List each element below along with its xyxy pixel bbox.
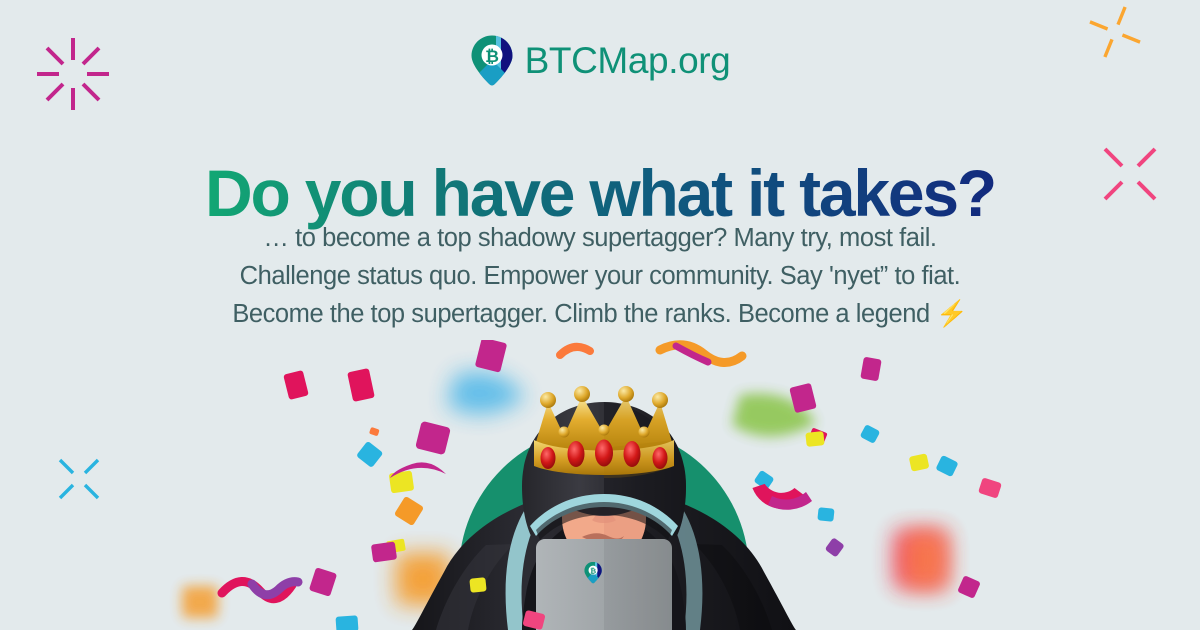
high-voltage-emoji: ⚡ — [936, 300, 967, 328]
brand-name: BTCMap.org — [525, 42, 731, 79]
subtitle: … to become a top shadowy supertagger? M… — [0, 219, 1200, 333]
subtitle-line-1: … to become a top shadowy supertagger? M… — [0, 219, 1200, 257]
brand-header[interactable]: ₿ BTCMap.org — [0, 34, 1200, 86]
subtitle-line-3-text: Become the top supertagger. Climb the ra… — [232, 300, 936, 328]
laptop: ₿ — [536, 539, 672, 630]
svg-text:₿: ₿ — [485, 47, 499, 66]
promo-card: ₿ BTCMap.org Do you have what it takes? … — [0, 0, 1200, 630]
subtitle-line-2: Challenge status quo. Empower your commu… — [0, 257, 1200, 295]
svg-text:₿: ₿ — [590, 566, 596, 575]
hero-illustration: ₿ — [0, 340, 1200, 630]
btcmap-pin-bitcoin-icon: ₿ — [470, 34, 514, 86]
subtitle-line-3: Become the top supertagger. Climb the ra… — [0, 295, 1200, 333]
gold-crown — [534, 386, 674, 478]
